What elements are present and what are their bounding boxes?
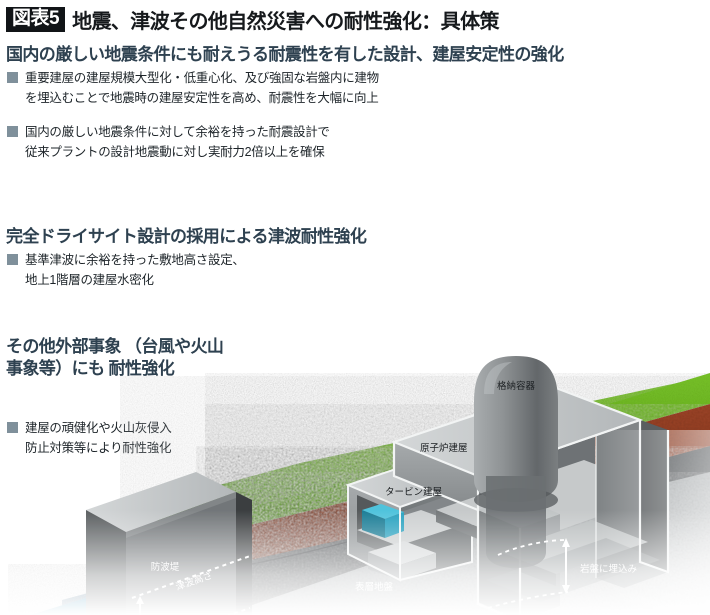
bullet-square-icon <box>7 72 18 83</box>
label-containment-vessel: 格納容器 <box>497 380 536 392</box>
bullet-text: 国内の厳しい地震条件に対して余裕を持った耐震設計で 従来プラントの設計地震動に対… <box>25 122 330 163</box>
bullet-square-icon <box>7 126 18 137</box>
label-surface-ground: 表層地盤 <box>355 581 394 593</box>
figure-title-text: 地震、津波その他自然災害への耐性強化：具体策 <box>72 5 499 34</box>
label-reactor-building: 原子炉建屋 <box>420 442 468 454</box>
plant-cutaway-illustration: 格納容器 原子炉建屋 タービン建屋 防波堤 表層地盤 岩盤 岩盤に埋込み 津波高… <box>0 180 710 615</box>
figure-page: 図表5 地震、津波その他自然災害への耐性強化：具体策 国内の厳しい地震条件にも耐… <box>0 0 710 615</box>
bullet-text: 重要建屋の建屋規模大型化・低重心化、及び強固な岩盤内に建物 を埋込むことで地震時… <box>25 68 379 109</box>
bullet-item: 重要建屋の建屋規模大型化・低重心化、及び強固な岩盤内に建物 を埋込むことで地震時… <box>7 68 379 109</box>
label-turbine-building: タービン建屋 <box>385 486 442 498</box>
label-embedded-in-bedrock: 岩盤に埋込み <box>580 563 637 575</box>
figure-number-badge: 図表5 <box>6 7 65 33</box>
section-heading-seismic: 国内の厳しい地震条件にも耐えうる耐震性を有した設計、建屋安定性の強化 <box>6 40 564 65</box>
label-breakwater: 防波堤 <box>151 561 180 573</box>
bullet-item: 国内の厳しい地震条件に対して余裕を持った耐震設計で 従来プラントの設計地震動に対… <box>7 122 330 163</box>
page-title: 図表5 地震、津波その他自然災害への耐性強化：具体策 <box>6 5 499 34</box>
